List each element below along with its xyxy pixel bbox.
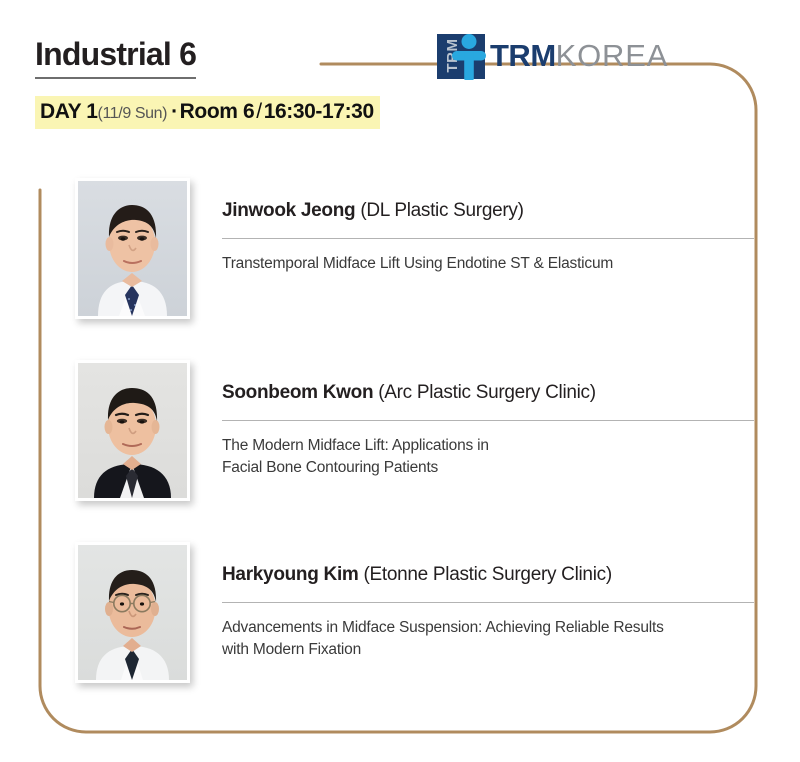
speaker-info: Harkyoung Kim (Etonne Plastic Surgery Cl… [222,564,754,662]
avatar [75,542,190,683]
logo-korea-text: KOREA [556,38,669,74]
divider [222,238,754,239]
speaker-topic: Transtemporal Midface Lift Using Endotin… [222,253,754,275]
portrait-soonbeom-kwon [78,363,187,498]
schedule-room: Room 6 [180,100,255,123]
speaker-name-line: Soonbeom Kwon (Arc Plastic Surgery Clini… [222,382,754,405]
logo-wordmark: TRMKOREA [490,38,668,74]
page-title: Industrial 6 [35,36,196,79]
logo-mark: TRM [437,32,489,80]
speaker-name: Soonbeom Kwon [222,382,373,403]
speaker-affiliation: (Etonne Plastic Surgery Clinic) [364,564,612,585]
speaker-affiliation: (Arc Plastic Surgery Clinic) [378,382,596,403]
list-item: Soonbeom Kwon (Arc Plastic Surgery Clini… [0,360,800,501]
portrait-harkyoung-kim [78,545,187,680]
speaker-name: Harkyoung Kim [222,564,359,585]
person-figure-icon [450,33,490,80]
schedule-time: 16:30-17:30 [264,100,374,123]
speaker-affiliation: (DL Plastic Surgery) [360,200,523,221]
speaker-name-line: Harkyoung Kim (Etonne Plastic Surgery Cl… [222,564,754,587]
trm-korea-logo: TRM TRMKOREA [437,30,668,82]
speaker-topic: The Modern Midface Lift: Applications in… [222,435,754,480]
list-item: Jinwook Jeong (DL Plastic Surgery) Trans… [0,178,800,319]
avatar [75,360,190,501]
divider [222,420,754,421]
schedule-date: (11/9 Sun) [98,105,168,122]
speaker-name: Jinwook Jeong [222,200,355,221]
speaker-info: Jinwook Jeong (DL Plastic Surgery) Trans… [222,200,754,275]
schedule-slash: / [254,100,263,123]
schedule-day: DAY 1 [40,100,98,123]
speaker-topic: Advancements in Midface Suspension: Achi… [222,617,754,662]
logo-trm-text: TRM [490,38,556,74]
portrait-jinwook-jeong [78,181,187,316]
speaker-info: Soonbeom Kwon (Arc Plastic Surgery Clini… [222,382,754,480]
avatar [75,178,190,319]
schedule-banner: DAY 1(11/9 Sun)·Room 6/16:30-17:30 [35,96,380,129]
list-item: Harkyoung Kim (Etonne Plastic Surgery Cl… [0,542,800,683]
header: Industrial 6 DAY 1(11/9 Sun)·Room 6/16:3… [0,0,800,150]
schedule-separator: · [167,100,180,123]
speaker-name-line: Jinwook Jeong (DL Plastic Surgery) [222,200,754,223]
divider [222,602,754,603]
speaker-list: Jinwook Jeong (DL Plastic Surgery) Trans… [0,178,800,724]
